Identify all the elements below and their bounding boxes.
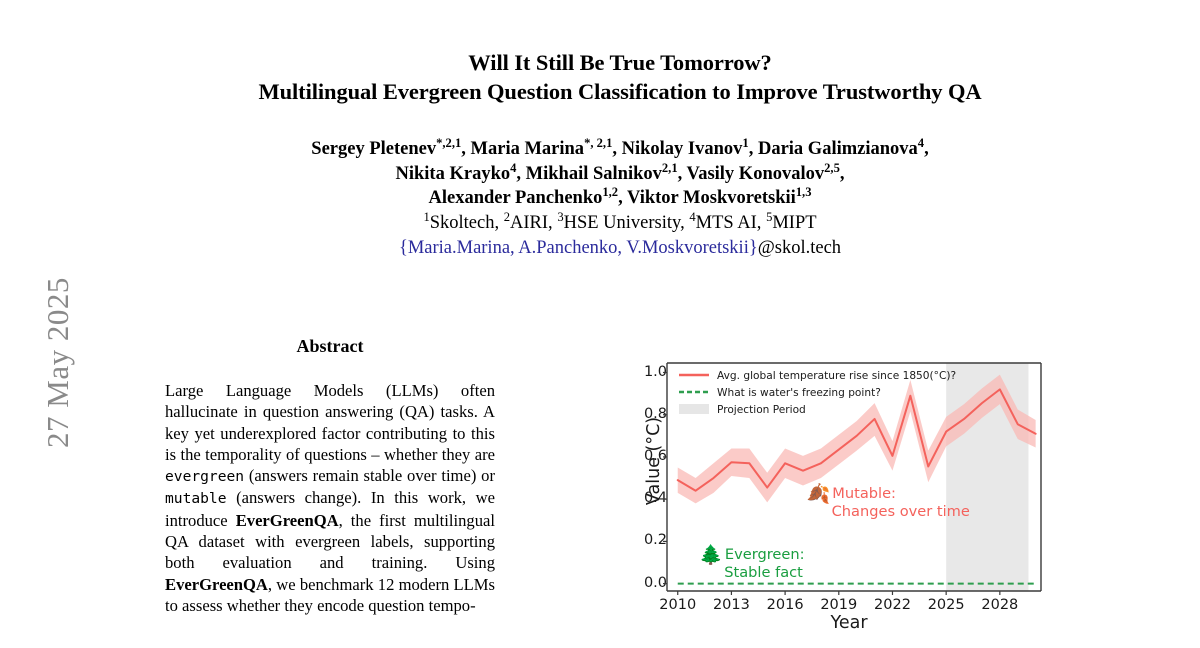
affiliation-name: AIRI, (510, 213, 553, 233)
falling-leaves-icon: 🍂 (807, 483, 831, 505)
affiliation-name: Skoltech, (430, 213, 499, 233)
annotation-evergreen: 🌲Evergreen: Stable fact (699, 546, 804, 581)
author-line-1: Sergey Pletenev*,2,1, Maria Marina*, 2,1… (120, 137, 1120, 162)
affiliation-name: MTS AI, (696, 213, 762, 233)
annotation-mutable: 🍂Mutable: Changes over time (807, 485, 970, 520)
abstract-term-evergreen: evergreen (165, 468, 244, 485)
abstract-column: Abstract Large Language Models (LLMs) of… (165, 336, 495, 616)
paper-page: Will It Still Be True Tomorrow? Multilin… (120, 0, 1200, 648)
author-affil-marker: *,2,1 (436, 136, 461, 150)
title-line-2: Multilingual Evergreen Question Classifi… (120, 77, 1120, 106)
evergreen-tree-icon: 🌲 (699, 544, 723, 566)
author-affil-marker: 1,3 (796, 185, 812, 199)
chart-plot-area: Value (°C) Year 0.00.20.40.60.81.0 20102… (625, 355, 1045, 640)
author-name: Alexander Panchenko (428, 188, 602, 208)
author-separator: , Nikolay Ivanov (612, 139, 742, 159)
author-separator: , Maria Marina (461, 139, 584, 159)
author-affil-marker: 2,5 (824, 160, 840, 174)
affiliation-line: 1Skoltech, 2AIRI, 3HSE University, 4MTS … (120, 211, 1120, 236)
abstract-dataset-name: EverGreenQA (236, 511, 339, 530)
contact-email-line: {Maria.Marina, A.Panchenko, V.Moskvorets… (120, 236, 1120, 261)
author-block: Sergey Pletenev*,2,1, Maria Marina*, 2,1… (120, 137, 1120, 261)
email-addresses[interactable]: {Maria.Marina, A.Panchenko, V.Moskvorets… (399, 238, 758, 258)
abstract-dataset-name: EverGreenQA (165, 575, 268, 594)
author-separator: , Viktor Moskvoretskii (618, 188, 796, 208)
email-domain: @skol.tech (758, 238, 841, 258)
annotation-evergreen-line2: Stable fact (699, 564, 803, 581)
affiliation-name: MIPT (772, 213, 816, 233)
abstract-text-part: (answers remain stable over time) or (244, 466, 495, 485)
author-affil-marker: 1,2 (602, 185, 618, 199)
legend-label: Avg. global temperature rise since 1850(… (717, 370, 956, 382)
author-name: Sergey Pletenev (311, 139, 436, 159)
annotation-evergreen-line1: Evergreen: (725, 546, 805, 563)
arxiv-date-stamp: 27 May 2025 (40, 188, 76, 448)
abstract-body: Large Language Models (LLMs) often hallu… (165, 380, 495, 616)
author-separator: , Daria Galimzianova (749, 139, 918, 159)
figure-temporality-chart: Value (°C) Year 0.00.20.40.60.81.0 20102… (625, 355, 1045, 640)
legend-label: Projection Period (717, 404, 806, 416)
author-affil-marker: 2,1 (662, 160, 678, 174)
author-separator: , Mikhail Salnikov (516, 164, 661, 184)
author-separator: , Vasily Konovalov (678, 164, 825, 184)
author-line-2: Nikita Krayko4, Mikhail Salnikov2,1, Vas… (120, 162, 1120, 187)
annotation-mutable-line1: Mutable: (832, 485, 896, 502)
legend-swatch-patch (679, 404, 709, 414)
affiliation-name: HSE University, (564, 213, 685, 233)
title-line-1: Will It Still Be True Tomorrow? (120, 48, 1120, 77)
abstract-term-mutable: mutable (165, 490, 227, 507)
author-affil-marker: *, 2,1 (584, 136, 612, 150)
abstract-heading: Abstract (165, 336, 495, 357)
author-name: Nikita Krayko (396, 164, 511, 184)
legend-label: What is water's freezing point? (717, 387, 881, 399)
arxiv-side-stamp: 27 May 2025 (0, 0, 120, 648)
annotation-mutable-line2: Changes over time (807, 503, 970, 520)
author-line-3: Alexander Panchenko1,2, Viktor Moskvoret… (120, 186, 1120, 211)
author-separator: , (840, 164, 845, 184)
page-title: Will It Still Be True Tomorrow? Multilin… (120, 48, 1120, 106)
author-separator: , (924, 139, 929, 159)
abstract-text-part: Large Language Models (LLMs) often hallu… (165, 381, 495, 464)
